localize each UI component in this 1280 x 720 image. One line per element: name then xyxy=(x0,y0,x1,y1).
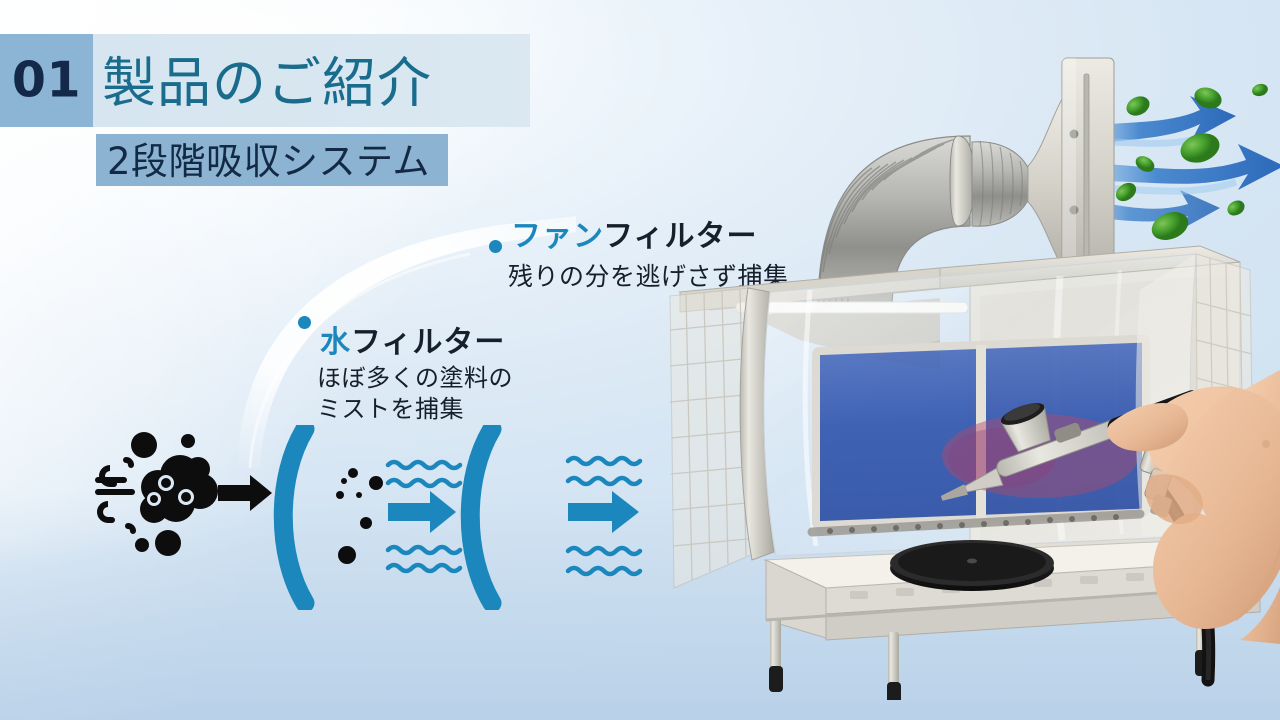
two-stage-filtration-diagram xyxy=(88,425,658,610)
slide-canvas: 01 製品のご紹介 2段階吸収システム ファンフィルター 残りの分を逃げさず捕集 xyxy=(0,0,1280,720)
section-number-badge: 01 xyxy=(0,34,93,127)
spray-booth-product-image xyxy=(640,40,1280,700)
callout-water-heading-highlight: 水 xyxy=(320,325,351,360)
section-title-bar: 製品のご紹介 xyxy=(93,34,530,127)
section-number-label: 01 xyxy=(12,51,81,108)
section-subtitle-bar: 2段階吸収システム xyxy=(96,134,448,186)
water-filter-arc-icon xyxy=(283,429,305,603)
callout-dot-icon xyxy=(489,240,502,253)
callout-water-body-line-2: ミストを捕集 xyxy=(317,394,513,425)
callout-water-body-line-1: ほぼ多くの塗料の xyxy=(317,363,513,394)
page-title: 製品のご紹介 xyxy=(102,38,432,117)
arrow-right-icon xyxy=(568,491,639,533)
callout-dot-icon xyxy=(298,316,311,329)
particles-icon xyxy=(336,468,383,564)
arrow-right-icon xyxy=(388,491,456,533)
smoke-cloud-icon xyxy=(95,432,218,556)
callout-water-heading: 水フィルター xyxy=(320,317,505,361)
fan-filter-arc-icon xyxy=(470,429,492,603)
page-subtitle: 2段階吸収システム xyxy=(107,131,430,185)
callout-fan-heading-highlight: ファン xyxy=(511,219,603,254)
arrow-right-icon xyxy=(218,475,272,511)
callout-water-heading-rest: フィルター xyxy=(351,325,505,360)
callout-water-body: ほぼ多くの塗料の ミストを捕集 xyxy=(317,363,513,425)
